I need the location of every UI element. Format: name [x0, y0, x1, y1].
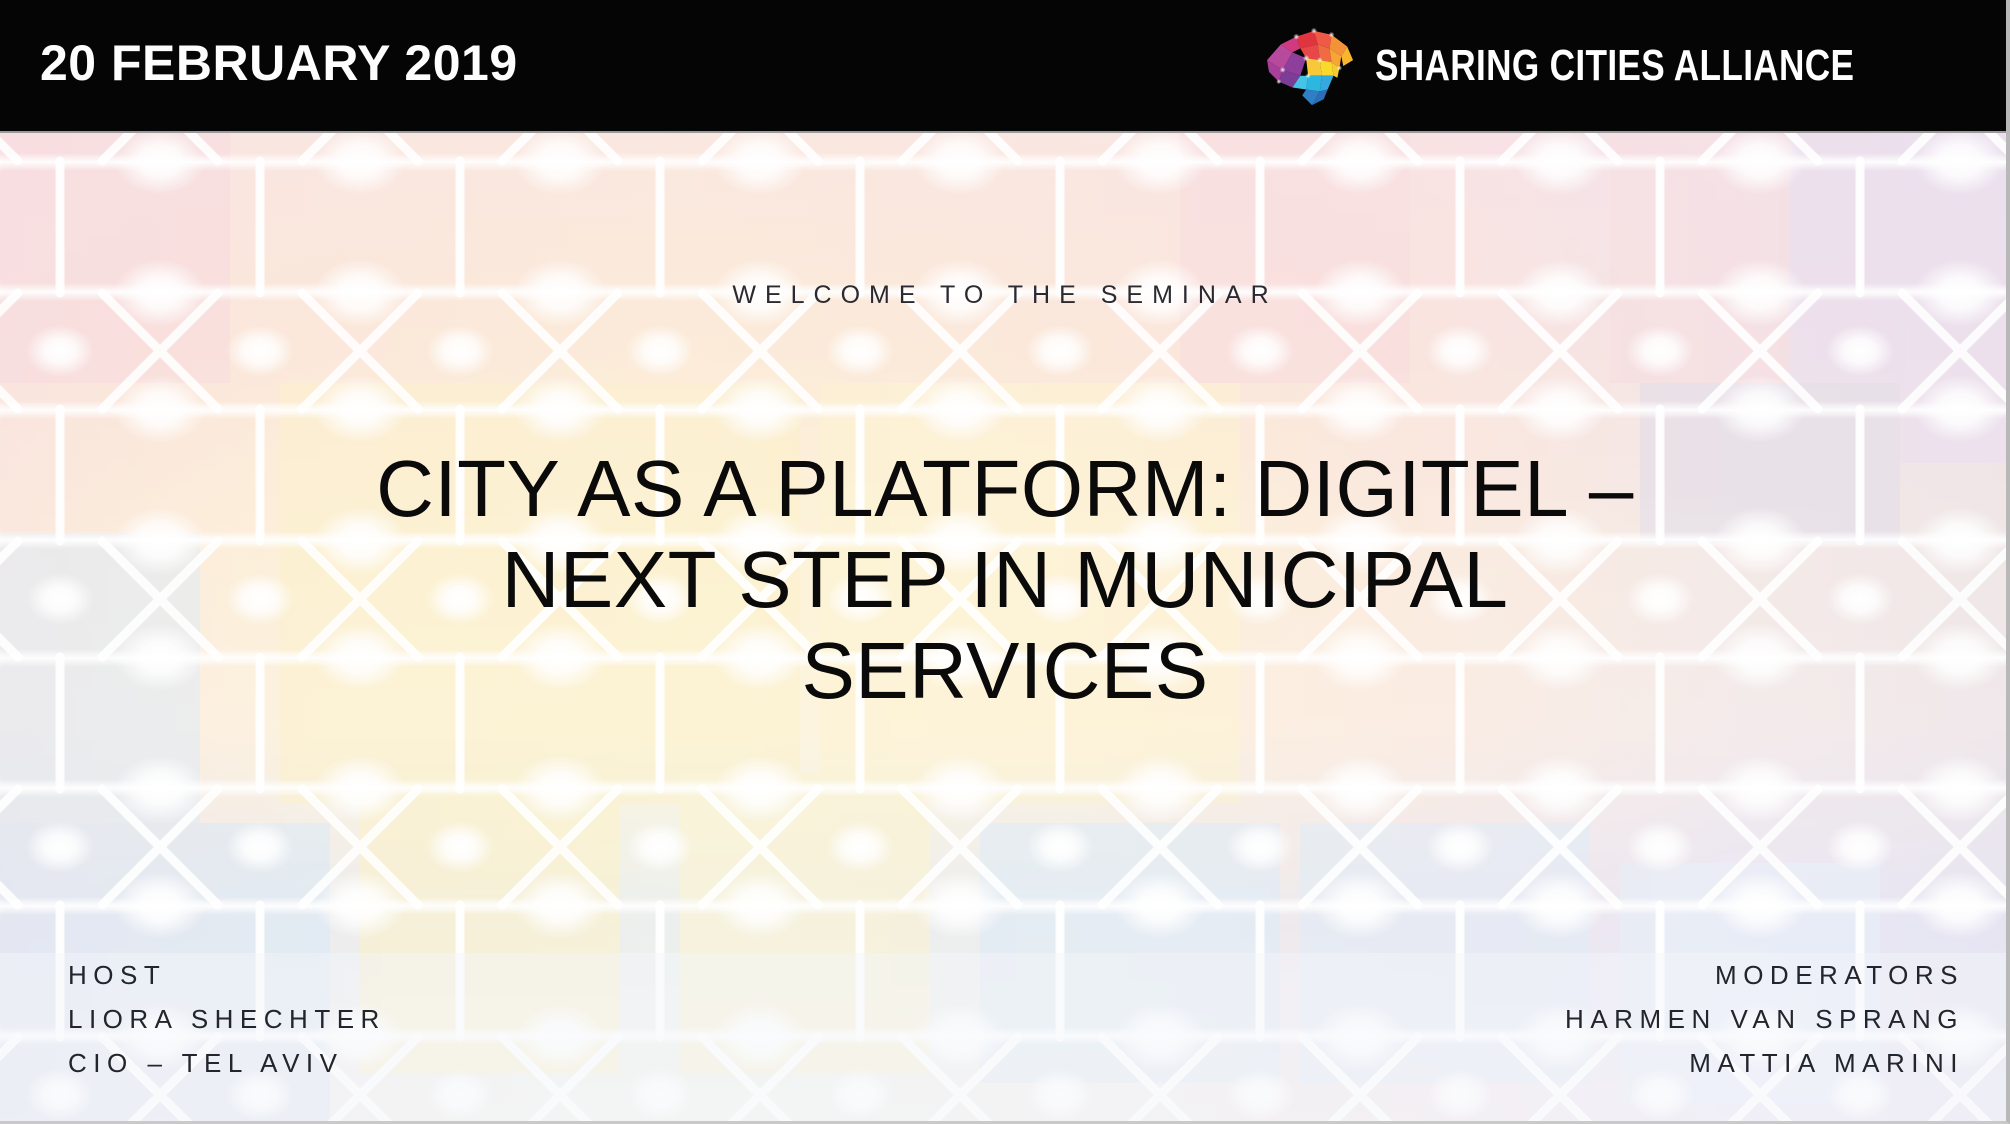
moderator-name-2: MATTIA MARINI — [1565, 1041, 1964, 1085]
slide-header-bar: 20 FEBRUARY 2019 — [0, 0, 2010, 133]
host-name: LIORA SHECHTER — [68, 997, 386, 1041]
host-block: HOST LIORA SHECHTER CIO – TEL AVIV — [68, 953, 386, 1086]
host-role: CIO – TEL AVIV — [68, 1041, 386, 1085]
moderators-block: MODERATORS HARMEN VAN SPRANG MATTIA MARI… — [1565, 953, 1964, 1086]
slide-title: CITY AS A PLATFORM: DIGITEL – NEXT STEP … — [150, 443, 1860, 717]
header-date: 20 FEBRUARY 2019 — [40, 34, 518, 92]
title-line-2: NEXT STEP IN MUNICIPAL — [150, 534, 1860, 625]
host-label: HOST — [68, 953, 386, 997]
title-line-1: CITY AS A PLATFORM: DIGITEL – — [150, 443, 1860, 534]
sharing-cities-alliance-logo: SHARING CITIES ALLIANCE — [1263, 18, 1974, 114]
moderator-name-1: HARMEN VAN SPRANG — [1565, 997, 1964, 1041]
title-line-3: SERVICES — [150, 625, 1860, 716]
slide-content: WELCOME TO THE SEMINAR CITY AS A PLATFOR… — [0, 133, 2010, 1124]
brain-logo-icon — [1263, 23, 1361, 109]
moderators-label: MODERATORS — [1565, 953, 1964, 997]
logo-wordmark: SHARING CITIES ALLIANCE — [1375, 41, 1854, 91]
slide-eyebrow-text: WELCOME TO THE SEMINAR — [0, 281, 2010, 310]
presentation-slide: 20 FEBRUARY 2019 — [0, 0, 2010, 1124]
